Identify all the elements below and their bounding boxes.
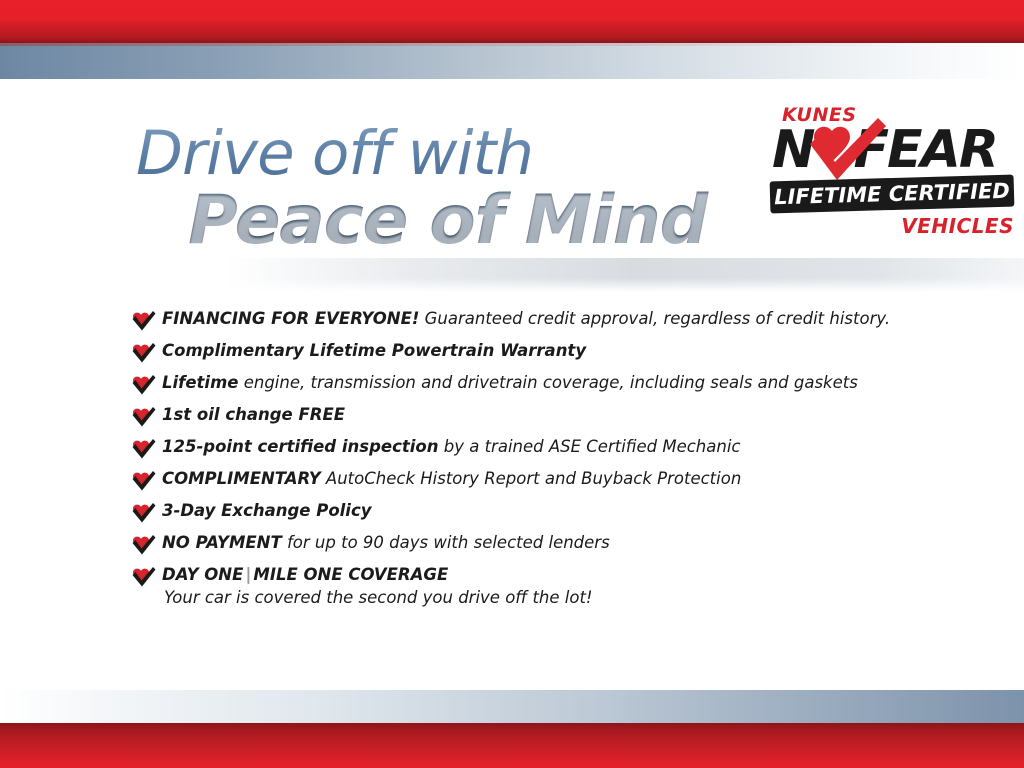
benefit-strong: 125-point certified inspection [162, 437, 439, 456]
headline-line-2: Peace of Mind [188, 184, 756, 258]
benefit-subtext: Your car is covered the second you drive… [162, 586, 931, 609]
headline-block: Drive off with Peace of Mind [136, 124, 756, 258]
benefit-item: NO PAYMENT for up to 90 days with select… [131, 530, 931, 562]
benefit-rest: engine, transmission and drivetrain cove… [238, 373, 857, 392]
benefit-item: COMPLIMENTARY AutoCheck History Report a… [131, 466, 931, 498]
bottom-red-banner-bar [0, 723, 1024, 768]
benefit-strong: DAY ONE [162, 565, 243, 584]
benefit-text: Complimentary Lifetime Powertrain Warran… [162, 338, 931, 362]
benefit-item: 3-Day Exchange Policy [131, 498, 931, 530]
benefit-item: DAY ONE|MILE ONE COVERAGE Your car is co… [131, 562, 931, 616]
logo-bar-text: LIFETIME CERTIFIED [774, 179, 1010, 210]
benefit-item: 125-point certified inspection by a trai… [131, 434, 931, 466]
benefit-strong: Complimentary Lifetime Powertrain Warran… [162, 341, 586, 360]
heart-check-icon [131, 342, 156, 364]
benefit-text: COMPLIMENTARY AutoCheck History Report a… [162, 466, 931, 490]
benefit-text: Lifetime engine, transmission and drivet… [162, 370, 931, 394]
heart-check-icon [131, 374, 156, 396]
top-gray-banner-bar [0, 43, 1024, 79]
benefit-rest: AutoCheck History Report and Buyback Pro… [321, 469, 742, 488]
heart-check-icon [131, 502, 156, 524]
benefit-text: FINANCING FOR EVERYONE! Guaranteed credi… [162, 306, 931, 330]
header-divider-shade [0, 258, 1024, 292]
benefit-strong: COMPLIMENTARY [162, 469, 321, 488]
benefit-separator: | [243, 565, 253, 584]
heart-check-icon [131, 406, 156, 428]
heart-check-icon [131, 470, 156, 492]
benefit-item: Complimentary Lifetime Powertrain Warran… [131, 338, 931, 370]
benefit-item: 1st oil change FREE [131, 402, 931, 434]
heart-check-icon [131, 534, 156, 556]
benefit-text: 125-point certified inspection by a trai… [162, 434, 931, 458]
promo-flyer: Drive off with Peace of Mind KUNES NFEAR… [0, 0, 1024, 768]
logo-lifetime-certified-bar: LIFETIME CERTIFIED [770, 175, 1015, 214]
top-red-banner-bar [0, 0, 1024, 43]
heart-check-icon [131, 310, 156, 332]
benefit-strong: Lifetime [162, 373, 238, 392]
benefit-item: FINANCING FOR EVERYONE! Guaranteed credi… [131, 306, 931, 338]
benefit-item: Lifetime engine, transmission and drivet… [131, 370, 931, 402]
benefit-text: 1st oil change FREE [162, 402, 931, 426]
benefit-strong-2: MILE ONE COVERAGE [253, 565, 448, 584]
benefit-rest: by a trained ASE Certified Mechanic [439, 437, 741, 456]
benefit-text: 3-Day Exchange Policy [162, 498, 931, 522]
benefit-strong: 3-Day Exchange Policy [162, 501, 372, 520]
benefit-text: DAY ONE|MILE ONE COVERAGE [162, 562, 931, 586]
benefit-rest: Guaranteed credit approval, regardless o… [419, 309, 890, 328]
kunes-no-fear-logo: KUNES NFEAR LIFETIME CERTIFIED VEHICLES [768, 104, 1016, 250]
logo-word-vehicles: VEHICLES [901, 214, 1014, 238]
benefits-list: FINANCING FOR EVERYONE! Guaranteed credi… [131, 306, 931, 616]
benefit-strong: 1st oil change FREE [162, 405, 345, 424]
benefit-strong: FINANCING FOR EVERYONE! [162, 309, 419, 328]
benefit-text: NO PAYMENT for up to 90 days with select… [162, 530, 931, 554]
headline-line-1: Drive off with [136, 124, 756, 184]
heart-check-icon [131, 566, 156, 588]
bottom-gray-banner-bar [0, 690, 1024, 723]
heart-check-icon [131, 438, 156, 460]
benefit-rest: for up to 90 days with selected lenders [282, 533, 610, 552]
benefit-strong: NO PAYMENT [162, 533, 282, 552]
